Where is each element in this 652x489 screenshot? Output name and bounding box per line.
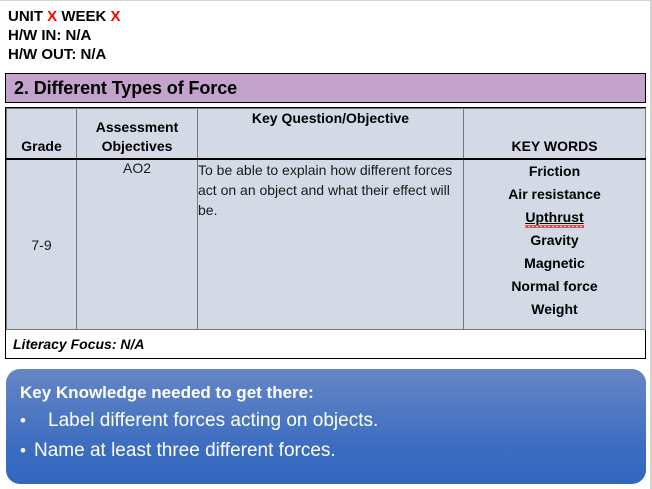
column-header-key-question: Key Question/Objective — [198, 109, 464, 160]
bullet-dot-icon: • — [20, 436, 34, 466]
week-value: X — [111, 8, 121, 25]
slide-canvas: UNIT X WEEK X H/W IN: N/A H/W OUT: N/A 2… — [0, 0, 652, 489]
cell-key-question: To be able to explain how different forc… — [198, 159, 464, 330]
homework-out-line: H/W OUT: N/A — [8, 45, 408, 64]
key-word-item: Weight — [464, 298, 645, 321]
key-word-row: Gravity — [464, 229, 645, 252]
key-word-row: Magnetic — [464, 252, 645, 275]
key-knowledge-callout: Key Knowledge needed to get there: •Labe… — [6, 369, 646, 484]
literacy-focus-row: Literacy Focus: N/A — [5, 330, 646, 359]
column-header-grade: Grade — [7, 109, 77, 160]
lesson-title-text: 2. Different Types of Force — [6, 78, 237, 99]
week-label: WEEK — [57, 8, 110, 25]
homework-in-line: H/W IN: N/A — [8, 26, 408, 45]
key-word-row: Weight — [464, 298, 645, 321]
key-words-list: FrictionAir resistanceUpthrustGravityMag… — [464, 160, 645, 321]
bullet-dot-icon: • — [20, 406, 48, 436]
key-knowledge-bullet: •Label different forces acting on object… — [20, 406, 632, 436]
cell-grade: 7-9 — [7, 159, 77, 330]
literacy-focus-text: Literacy Focus: N/A — [6, 336, 144, 352]
lesson-meta-block: UNIT X WEEK X H/W IN: N/A H/W OUT: N/A — [8, 7, 408, 64]
unit-week-line: UNIT X WEEK X — [8, 7, 408, 26]
key-word-row: Friction — [464, 160, 645, 183]
key-word-item: Air resistance — [464, 183, 645, 206]
table-header-row: Grade Assessment Objectives Key Question… — [7, 109, 646, 160]
column-header-grade-label: Grade — [7, 137, 76, 156]
unit-label: UNIT — [8, 8, 47, 25]
key-knowledge-bullet: •Name at least three different forces. — [20, 436, 632, 466]
cell-key-words: FrictionAir resistanceUpthrustGravityMag… — [464, 159, 646, 330]
key-knowledge-bullet-text: Label different forces acting on objects… — [48, 406, 632, 436]
key-knowledge-bullet-list: •Label different forces acting on object… — [20, 406, 632, 466]
table-row: 7-9 AO2 To be able to explain how differ… — [7, 159, 646, 330]
column-header-key-words-label: KEY WORDS — [464, 137, 645, 156]
lesson-title-bar: 2. Different Types of Force — [5, 73, 646, 103]
column-header-assessment-line1: Assessment — [77, 118, 197, 137]
key-word-row: Upthrust — [464, 206, 645, 229]
key-knowledge-title: Key Knowledge needed to get there: — [20, 381, 632, 404]
column-header-key-question-label: Key Question/Objective — [198, 109, 463, 156]
objectives-table: Grade Assessment Objectives Key Question… — [5, 107, 646, 331]
cell-assessment-objective: AO2 — [77, 159, 198, 330]
column-header-assessment-objectives: Assessment Objectives — [77, 109, 198, 160]
unit-value: X — [47, 8, 57, 25]
key-word-row: Air resistance — [464, 183, 645, 206]
key-word-item: Magnetic — [464, 252, 645, 275]
key-word-item: Normal force — [464, 275, 645, 298]
column-header-assessment-line2: Objectives — [77, 137, 197, 156]
column-header-key-words: KEY WORDS — [464, 109, 646, 160]
key-word-item: Gravity — [464, 229, 645, 252]
key-word-row: Normal force — [464, 275, 645, 298]
key-word-item: Friction — [464, 160, 645, 183]
key-word-item: Upthrust — [525, 206, 583, 229]
key-knowledge-bullet-text: Name at least three different forces. — [34, 436, 632, 466]
